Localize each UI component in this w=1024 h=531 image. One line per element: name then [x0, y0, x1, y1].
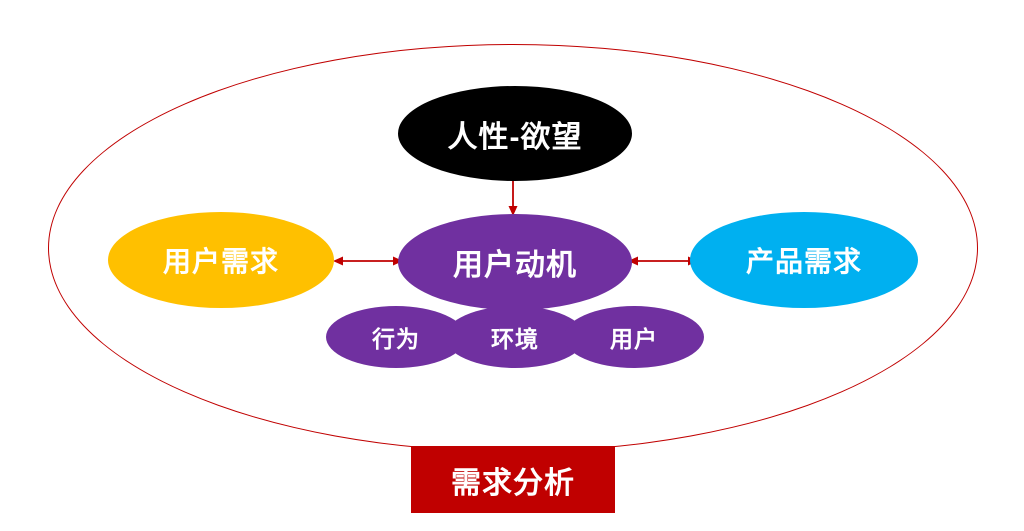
node-user-motivation[interactable]: 用户动机	[398, 214, 632, 310]
node-product-need[interactable]: 产品需求	[690, 212, 918, 308]
node-demand-analysis[interactable]: 需求分析	[411, 446, 615, 513]
node-user-need[interactable]: 用户需求	[108, 212, 334, 308]
connector-motivation-productneed	[628, 252, 698, 270]
node-user[interactable]: 用户	[564, 306, 704, 368]
node-human-desire[interactable]: 人性-欲望	[398, 86, 632, 181]
connector-userneed-motivation	[333, 252, 403, 270]
diagram-canvas: 行为 环境 用户 人性-欲望 用户动机 用户需求 产品需求 需求分析	[0, 0, 1024, 531]
connector-human-to-motivation	[505, 180, 521, 218]
